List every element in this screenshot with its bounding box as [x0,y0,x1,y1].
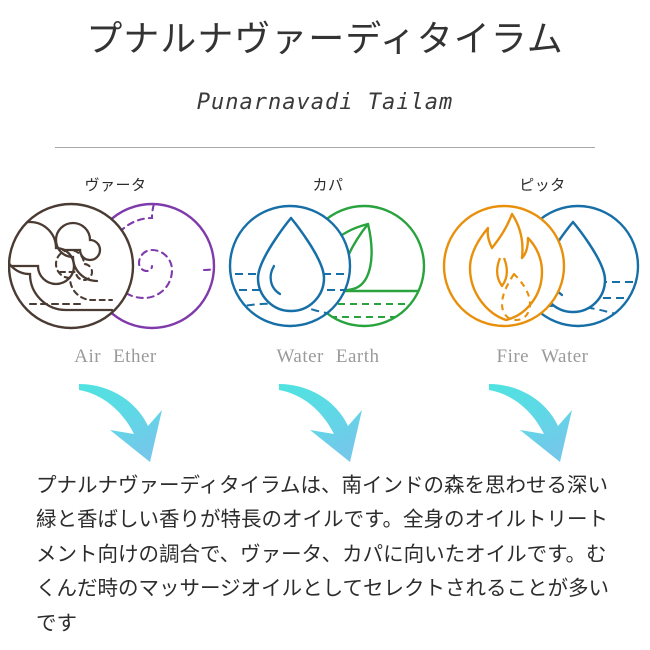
element-name-air: Air [74,346,101,368]
pitta-element-names: Fire Water [440,346,645,368]
dosha-group-pitta: ピッタ [440,170,645,370]
pitta-element-diagram [440,196,645,336]
dosha-groups: ヴァータ [0,170,650,370]
fire-flame-icon [444,206,564,326]
down-right-arrow-2-icon [278,378,388,464]
element-name-fire: Fire [497,346,530,368]
page-title-japanese: プナルナヴァーディタイラム [0,18,650,61]
down-right-arrow-1-icon [78,378,188,464]
element-name-water: Water [276,346,323,368]
air-swirl-icon [8,204,133,328]
vata-element-diagram [8,196,223,336]
dosha-group-label-vata: ヴァータ [8,174,223,195]
kapha-element-names: Water Earth [228,346,428,368]
down-right-arrow-3-icon [488,378,598,464]
arrow-row [0,378,650,464]
vata-element-names: Air Ether [8,346,223,368]
element-name-earth: Earth [336,346,380,368]
page-title-romanized: Punarnavadi Tailam [0,90,650,115]
water-droplet-icon [228,206,366,326]
product-info-panel: プナルナヴァーディタイラム Punarnavadi Tailam ヴァータ [0,0,650,650]
product-description: プナルナヴァーディタイラムは、南インドの森を思わせる深い緑と香ばしい香りが特長の… [36,468,618,640]
element-name-water: Water [541,346,588,368]
dosha-group-vata: ヴァータ [8,170,223,370]
header-divider [55,147,595,148]
kapha-element-diagram [228,196,428,336]
dosha-group-label-pitta: ピッタ [440,174,645,195]
dosha-group-label-kapha: カパ [228,174,428,195]
element-name-ether: Ether [113,346,157,368]
dosha-group-kapha: カパ [228,170,428,370]
